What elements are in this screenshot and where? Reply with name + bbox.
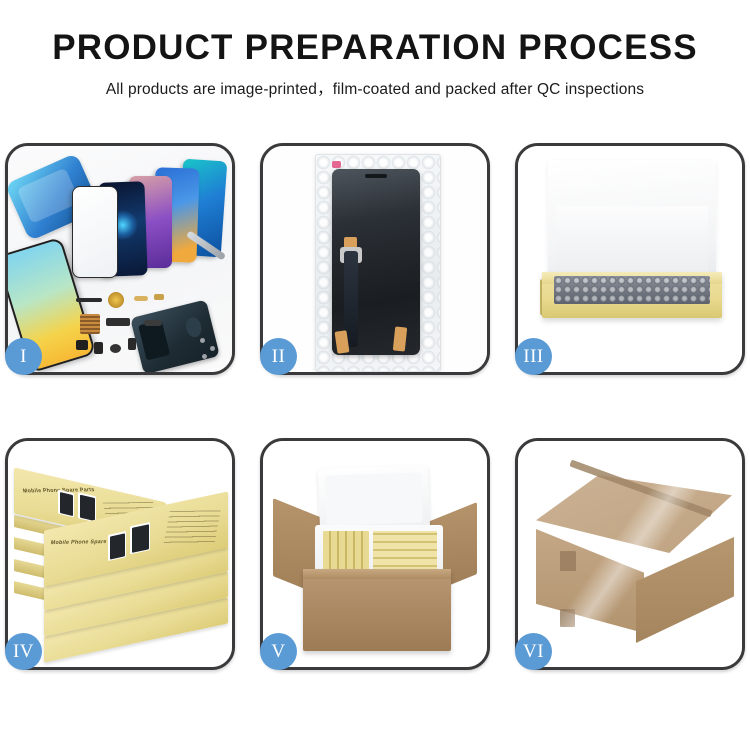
page-title: PRODUCT PREPARATION PROCESS [0,30,750,67]
step-panel-6[interactable]: VI [515,438,745,670]
carton-tape-upper [560,551,576,571]
screw [210,346,215,351]
part-camera [76,340,88,350]
screws-group [200,338,226,362]
yellow-boxes-left-group [323,531,369,573]
yellow-boxes-right-group [373,531,437,573]
step-badge-5: V [260,633,297,670]
step-photo-stacked-retail-boxes: Mobile Phone Spare Parts Mobile Phone Sp… [8,441,232,667]
carton-side-face [636,537,734,643]
step-badge-3: III [515,338,552,375]
step-panel-2[interactable]: II [260,143,490,375]
tape-strip [393,326,407,351]
carton-tape-lower [560,609,575,627]
foam-sheet [548,160,716,280]
part-sensor [128,338,136,350]
box-stack: Mobile Phone Spare Parts Mobile Phone Sp… [14,465,232,655]
step-panel-3[interactable]: III [515,143,745,375]
step-photo-products-and-parts [8,146,232,372]
step-panel-1[interactable]: I [5,143,235,375]
carton-front-face [536,529,644,633]
qc-sticker [332,161,341,168]
page-subtitle: All products are image-printed，film-coat… [0,77,750,99]
part-ribbon [76,298,102,302]
step-panel-5[interactable]: V [260,438,490,670]
screw [202,354,207,359]
box-window [108,531,126,561]
screen-protector-glass [72,186,118,278]
step-badge-6: VI [515,633,552,670]
part-flex-cable [106,318,130,326]
box-window [58,490,74,518]
process-steps-grid: I II III [0,143,750,670]
step-badge-2: II [260,338,297,375]
shipping-carton-body [303,569,451,651]
page-header: PRODUCT PREPARATION PROCESS All products… [0,0,750,99]
bubble-wrapped-contents [554,276,710,304]
step-panel-4[interactable]: Mobile Phone Spare Parts Mobile Phone Sp… [5,438,235,670]
step-photo-foam-lined-inner-box [518,146,742,372]
part-speaker [108,292,124,308]
part-clip [154,294,164,300]
box-window [130,522,150,554]
box-window [78,492,96,522]
part-button [110,344,121,353]
part-bracket [94,342,103,354]
step-badge-1: I [5,338,42,375]
part-connector [134,296,148,301]
step-photo-sealed-shipping-carton [518,441,742,667]
screw [200,338,205,343]
part-antenna [144,320,162,326]
step-photo-carton-with-foam-case [263,441,487,667]
step-badge-4: IV [5,633,42,670]
box-spec-lines [163,510,221,546]
step-photo-bubble-wrapped-screen [263,146,487,372]
bubble-wrap-bag [315,154,441,372]
spare-parts-group [74,292,184,362]
part-mesh [80,314,100,334]
phone-lineup-image [76,158,226,278]
foam-case-lid [318,465,430,533]
